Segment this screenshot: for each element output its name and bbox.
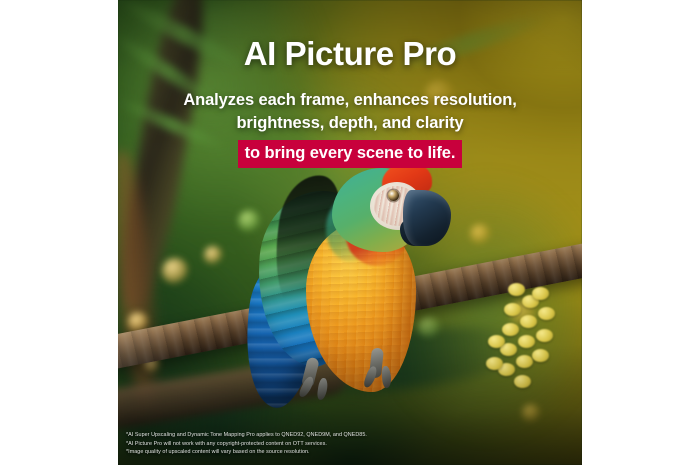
macaw-parrot — [240, 162, 450, 402]
footnote-item: *AI Picture Pro will not work with any c… — [126, 440, 546, 449]
footnotes: *AI Super Upscaling and Dynamic Tone Map… — [126, 431, 546, 457]
page-title: AI Picture Pro — [0, 36, 700, 73]
footnote-item: *Image quality of upscaled content will … — [126, 448, 546, 457]
parrot-claw — [317, 377, 329, 400]
subcopy-line-1: Analyzes each frame, enhances resolution… — [0, 89, 700, 112]
page-root: AI Picture Pro Analyzes each frame, enha… — [0, 0, 700, 465]
bokeh-highlight — [162, 258, 188, 284]
bokeh-highlight — [204, 246, 222, 264]
subcopy-line-2: brightness, depth, and clarity — [0, 112, 700, 135]
footnote-item: *AI Super Upscaling and Dynamic Tone Map… — [126, 431, 546, 440]
subcopy-highlight-wrap: to bring every scene to life. — [0, 136, 700, 168]
parrot-eye — [388, 190, 399, 201]
bokeh-highlight — [470, 224, 490, 244]
promo-copy: AI Picture Pro Analyzes each frame, enha… — [0, 36, 700, 168]
parrot-upper-beak — [403, 190, 451, 246]
subcopy-highlight: to bring every scene to life. — [238, 140, 463, 168]
berry-cluster — [464, 281, 574, 431]
promo-subcopy: Analyzes each frame, enhances resolution… — [0, 89, 700, 168]
